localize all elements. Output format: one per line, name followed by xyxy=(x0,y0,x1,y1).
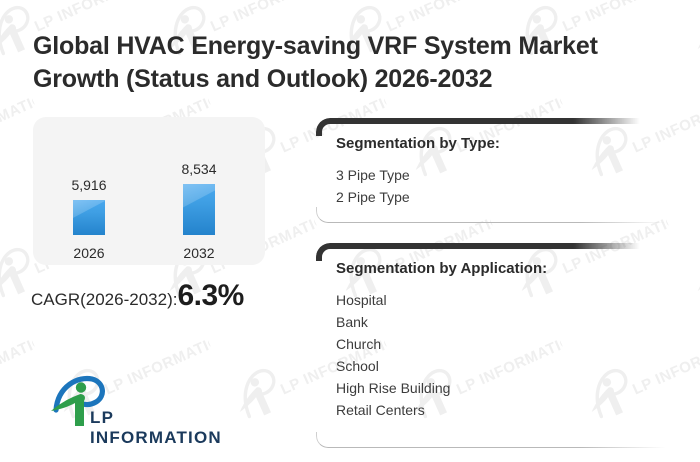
logo-wordmark: LP INFORMATION xyxy=(90,408,242,448)
cagr-label: CAGR(2026-2032): xyxy=(31,290,177,309)
segmentation-by-application-list: Hospital Bank Church School High Rise Bu… xyxy=(336,289,450,421)
svg-text:LP INFORMATION: LP INFORMATION xyxy=(0,328,44,399)
report-infographic-page: LP INFORMATIONLP INFORMATIONLP INFORMATI… xyxy=(0,0,700,462)
panel-bottom-border xyxy=(316,432,684,448)
bar-0 xyxy=(73,200,105,235)
list-item: Hospital xyxy=(336,289,450,311)
bar-gloss-0 xyxy=(73,200,105,235)
bar-label-1: 2032 xyxy=(159,245,239,261)
list-item: 2 Pipe Type xyxy=(336,186,410,208)
panel-top-border xyxy=(316,243,684,261)
segmentation-by-type-list: 3 Pipe Type 2 Pipe Type xyxy=(336,164,410,208)
segmentation-by-application-panel: Segmentation by Application: Hospital Ba… xyxy=(316,243,684,448)
bar-label-0: 2026 xyxy=(49,245,129,261)
panel-top-border xyxy=(316,118,684,136)
cagr-readout: CAGR(2026-2032):6.3% xyxy=(31,279,244,313)
segmentation-by-application-heading: Segmentation by Application: xyxy=(336,260,547,277)
panel-bottom-border xyxy=(316,207,684,223)
bar-1 xyxy=(183,184,215,235)
watermark-tile: LP INFORMATION xyxy=(0,312,44,436)
list-item: 3 Pipe Type xyxy=(336,164,410,186)
list-item: Bank xyxy=(336,311,450,333)
lp-information-logo: LP INFORMATION xyxy=(42,370,242,435)
list-item: Retail Centers xyxy=(336,399,450,421)
bar-value-1: 8,534 xyxy=(159,161,239,177)
list-item: Church xyxy=(336,333,450,355)
list-item: School xyxy=(336,355,450,377)
list-item: High Rise Building xyxy=(336,377,450,399)
watermark-tile: LP INFORMATION xyxy=(674,0,700,73)
market-size-bar-chart: 5,916 2026 8,534 2032 xyxy=(33,117,265,265)
segmentation-by-type-panel: Segmentation by Type: 3 Pipe Type 2 Pipe… xyxy=(316,118,684,223)
cagr-value: 6.3% xyxy=(177,279,243,312)
bar-value-0: 5,916 xyxy=(49,177,129,193)
bar-gloss-1 xyxy=(183,184,215,235)
segmentation-by-type-heading: Segmentation by Type: xyxy=(336,135,500,152)
page-title: Global HVAC Energy-saving VRF System Mar… xyxy=(33,30,653,96)
